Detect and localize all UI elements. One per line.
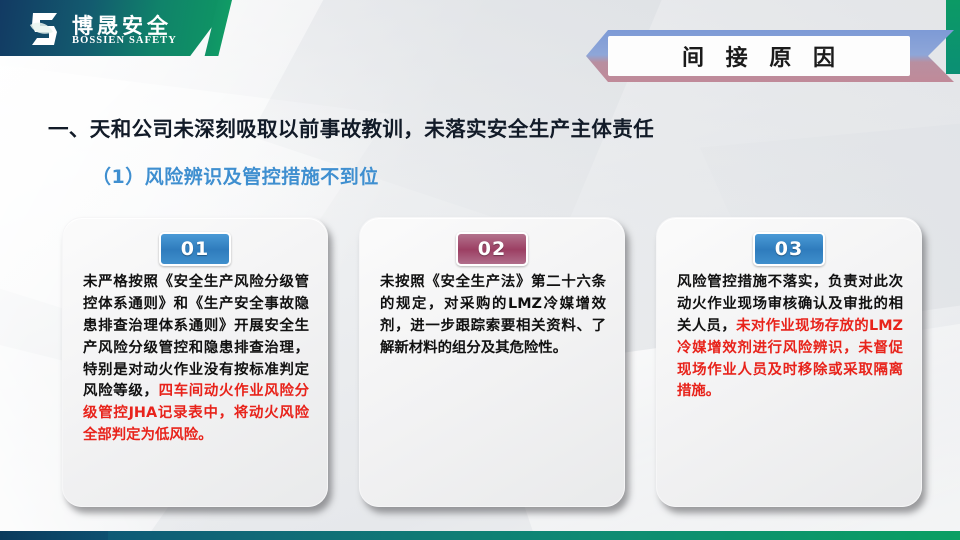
page-subtitle: （1）风险辨识及管控措施不到位 bbox=[92, 162, 379, 189]
banner-inner-plate: 间 接 原 因 bbox=[608, 36, 910, 76]
footer-bar-dark-segment bbox=[0, 531, 108, 540]
info-card-01[interactable]: 01未严格按照《安全生产风险分级管控体系通则》和《生产安全事故隐患排查治理体系通… bbox=[62, 217, 328, 507]
card-text-normal: 未严格按照《安全生产风险分级管控体系通则》和《生产安全事故隐患排查治理体系通则》… bbox=[83, 274, 309, 399]
card-body-text: 未按照《安全生产法》第二十六条的规定，对采购的LMZ冷媒增效剂，进一步跟踪索要相… bbox=[380, 272, 606, 360]
card-body-text: 未严格按照《安全生产风险分级管控体系通则》和《生产安全事故隐患排查治理体系通则》… bbox=[83, 272, 309, 447]
brand-name-en: BOSSIEN SAFETY bbox=[72, 35, 177, 46]
card-text-normal: 未按照《安全生产法》第二十六条的规定，对采购的LMZ冷媒增效剂，进一步跟踪索要相… bbox=[380, 274, 606, 356]
bossien-leaf-s-logo-icon bbox=[28, 11, 62, 47]
info-card-03[interactable]: 03风险管控措施不落实，负责对此次动火作业现场审核确认及审批的相关人员，未对作业… bbox=[656, 217, 922, 507]
banner-title-text: 间 接 原 因 bbox=[676, 40, 842, 72]
card-number-badge: 01 bbox=[159, 232, 231, 266]
section-title-banner: 间 接 原 因 bbox=[586, 30, 954, 82]
card-body-text: 风险管控措施不落实，负责对此次动火作业现场审核确认及审批的相关人员，未对作业现场… bbox=[677, 272, 903, 403]
card-number-badge: 02 bbox=[456, 232, 528, 266]
page-title: 一、天和公司未深刻吸取以前事故教训，未落实安全生产主体责任 bbox=[48, 112, 654, 142]
info-card-02[interactable]: 02未按照《安全生产法》第二十六条的规定，对采购的LMZ冷媒增效剂，进一步跟踪索… bbox=[359, 217, 625, 507]
card-number-badge: 03 bbox=[753, 232, 825, 266]
footer-bar bbox=[0, 531, 960, 540]
cards-row: 01未严格按照《安全生产风险分级管控体系通则》和《生产安全事故隐患排查治理体系通… bbox=[62, 217, 922, 507]
slide-canvas: 博晟安全 BOSSIEN SAFETY 间 接 原 因 一、天和公司未深刻吸取以… bbox=[0, 0, 960, 540]
